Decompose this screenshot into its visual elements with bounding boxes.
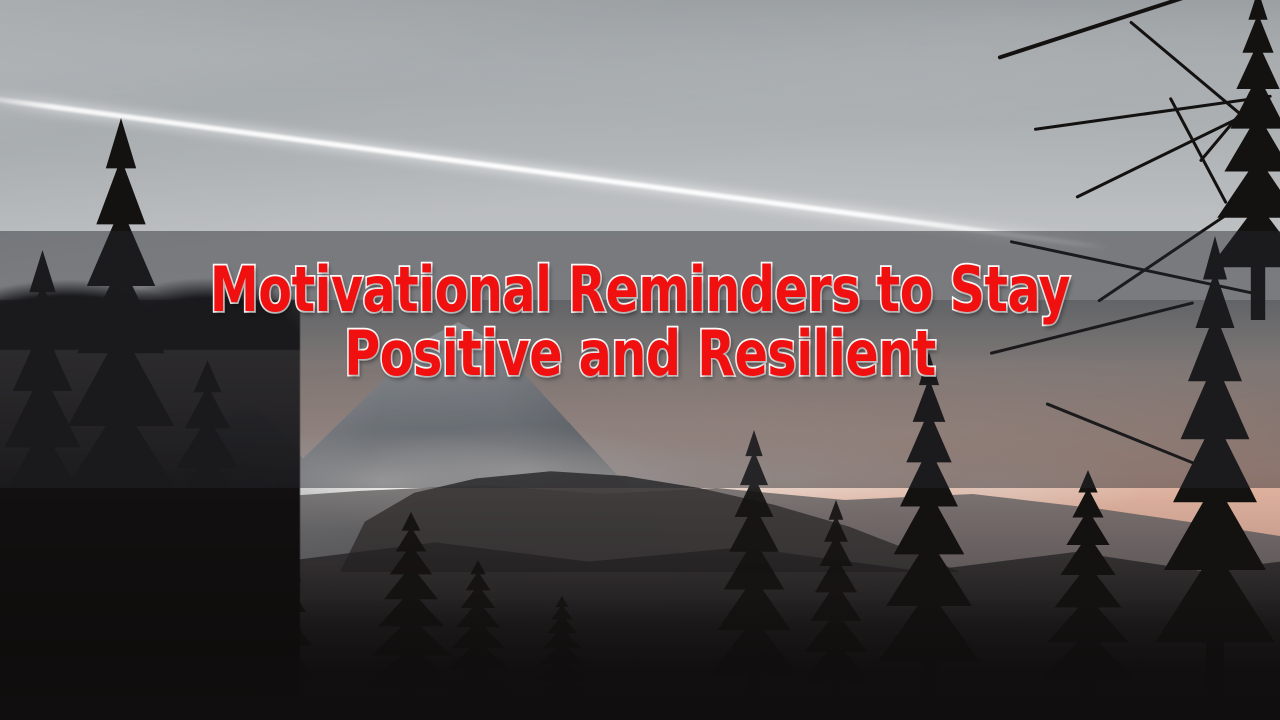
- bottom-vignette: [0, 600, 1280, 720]
- branch-6: [1129, 20, 1246, 119]
- headline-text: Motivational Reminders to Stay Positive …: [77, 258, 1203, 386]
- headline-line-2: Positive and Resilient: [77, 322, 1203, 386]
- branch-1: [997, 0, 1255, 60]
- branch-7: [1169, 97, 1228, 204]
- headline-line-1: Motivational Reminders to Stay: [77, 258, 1203, 322]
- motivational-banner: Motivational Reminders to Stay Positive …: [0, 0, 1280, 720]
